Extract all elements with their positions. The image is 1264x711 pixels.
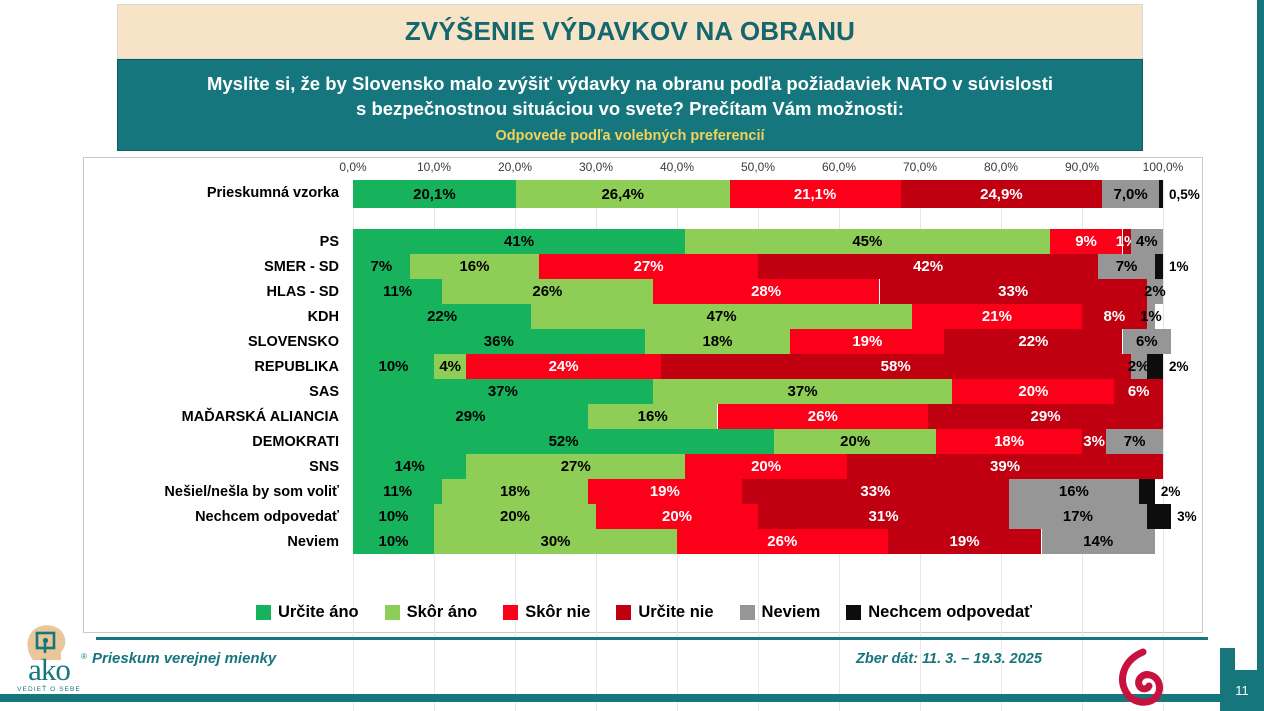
legend-swatch-icon [846,605,861,620]
chart-bar-segment[interactable]: 2% [1131,354,1147,379]
chart-bar-segment[interactable]: 29% [928,404,1163,429]
chart-bar-segment[interactable]: 26% [718,404,929,429]
chart-row-label: SLOVENSKO [84,334,346,350]
chart-bar-track: 36%18%19%22%6% [353,329,1163,354]
chart-legend: Určite ánoSkôr ánoSkôr nieUrčite nieNevi… [84,603,1204,622]
chart-bar-segment[interactable]: 20,1% [353,180,516,208]
chart-bar-segment[interactable]: 11% [353,279,442,304]
chart-bar-segment[interactable]: 20% [774,429,936,454]
chart-bar-track: 37%37%20%6% [353,379,1163,404]
chart-row: MAĎARSKÁ ALIANCIA29%16%26%29% [84,404,1204,429]
chart-bar-segment[interactable]: 18% [936,429,1082,454]
question-line-2: s bezpečnostnou situáciou vo svete? Preč… [356,96,904,121]
chart-row: PS41%45%9%1%4% [84,229,1204,254]
chart-bar-segment[interactable]: 7% [1098,254,1155,279]
chart-bar-track: 11%18%19%33%16%2% [353,479,1163,504]
chart-bar-segment[interactable]: 16% [1009,479,1139,504]
chart-outside-value: 3% [1173,504,1197,529]
chart-bar-segment[interactable]: 10% [353,354,434,379]
legend-label: Určite áno [278,603,359,622]
chart-bar-segment[interactable]: 19% [790,329,944,354]
chart-bar-segment[interactable]: 29% [353,404,588,429]
chart-bar-segment[interactable]: 36% [353,329,645,354]
legend-item[interactable]: Neviem [740,603,821,622]
chart-bar-segment[interactable]: 7% [353,254,410,279]
x-axis-tick: 90,0% [1065,160,1099,174]
chart-bar-segment[interactable] [1147,354,1163,379]
chart-bar-track: 14%27%20%39% [353,454,1163,479]
chart-bar-segment[interactable]: 20% [952,379,1114,404]
chart-bar-track: 29%16%26%29% [353,404,1163,429]
chart-bar-track: 11%26%28%33%2% [353,279,1163,304]
footer-divider [96,637,1208,640]
chart-bar-segment[interactable]: 26% [442,279,653,304]
chart-row: DEMOKRATI52%20%18%3%7% [84,429,1204,454]
chart-bar-segment[interactable]: 18% [645,329,791,354]
chart-area: 0,0%10,0%20,0%30,0%40,0%50,0%60,0%70,0%8… [83,157,1203,633]
footer-caption: Prieskum verejnej mienky [92,650,276,667]
chart-bar-segment[interactable] [1139,479,1155,504]
chart-row-label: DEMOKRATI [84,434,346,450]
chart-bar-segment[interactable]: 37% [353,379,653,404]
x-axis-tick: 20,0% [498,160,532,174]
chart-row: Nešiel/nešla by som voliť11%18%19%33%16%… [84,479,1204,504]
chart-bar-segment[interactable]: 41% [353,229,685,254]
chart-row: REPUBLIKA10%4%24%58%2%2% [84,354,1204,379]
chart-row-label: Nechcem odpovedať [84,509,346,525]
chart-row: SLOVENSKO36%18%19%22%6% [84,329,1204,354]
chart-bar-segment[interactable]: 33% [742,479,1009,504]
chart-bar-segment[interactable] [1159,180,1163,208]
chart-bar-segment[interactable]: 20% [434,504,596,529]
chart-row-label: Nešiel/nešla by som voliť [84,484,346,500]
legend-item[interactable]: Nechcem odpovedať [846,603,1032,622]
chart-bar-segment[interactable]: 26% [677,529,888,554]
chart-bar-segment[interactable]: 39% [847,454,1163,479]
ako-logo: ako ® VEDIEŤ O SEBE [5,624,91,706]
chart-row: Neviem10%30%26%19%14% [84,529,1204,554]
chart-bar-segment[interactable]: 22% [944,329,1122,354]
legend-item[interactable]: Skôr nie [503,603,590,622]
chart-row-label: MAĎARSKÁ ALIANCIA [84,409,346,425]
legend-item[interactable]: Určite áno [256,603,359,622]
x-axis-tick: 100,0% [1143,160,1184,174]
chart-row-label: Prieskumná vzorka [84,185,346,201]
chart-bar-segment[interactable]: 16% [410,254,540,279]
chart-bar-track: 20,1%26,4%21,1%24,9%7,0%0,5% [353,180,1163,205]
legend-swatch-icon [385,605,400,620]
legend-swatch-icon [256,605,271,620]
x-axis-tick: 30,0% [579,160,613,174]
chart-bar-segment[interactable]: 37% [653,379,953,404]
chart-bar-segment[interactable]: 10% [353,504,434,529]
chart-bar-segment[interactable]: 11% [353,479,442,504]
chart-bar-segment[interactable]: 7% [1106,429,1163,454]
chart-bar-segment[interactable]: 20% [596,504,758,529]
chart-bar-segment[interactable]: 28% [653,279,880,304]
chart-bar-segment[interactable]: 6% [1123,329,1172,354]
chart-bar-segment[interactable]: 16% [588,404,718,429]
ako-logo-tagline: VEDIEŤ O SEBE [5,686,93,693]
chart-row-label: SAS [84,384,346,400]
legend-label: Nechcem odpovedať [868,603,1032,622]
chart-bar-segment[interactable]: 14% [353,454,466,479]
chart-bar-segment[interactable]: 9% [1050,229,1123,254]
chart-bar-segment[interactable]: 8% [1082,304,1147,329]
chart-bar-segment[interactable]: 14% [1042,529,1155,554]
x-axis-tick: 80,0% [984,160,1018,174]
brand-swirl-icon [1104,648,1182,710]
ako-logo-registered: ® [81,652,87,661]
chart-bar-segment[interactable]: 19% [588,479,742,504]
chart-row-label: SNS [84,459,346,475]
x-axis-tick: 50,0% [741,160,775,174]
chart-bar-segment[interactable] [1155,254,1163,279]
slide-title-band: ZVÝŠENIE VÝDAVKOV NA OBRANU [117,4,1143,59]
chart-bar-segment[interactable]: 24% [466,354,660,379]
ako-logo-word: ako [7,652,91,688]
page-badge-notch [1220,648,1235,672]
question-subtitle: Odpovede podľa volebných preferencií [495,128,764,144]
chart-row: KDH22%47%21%8%1% [84,304,1204,329]
chart-row: SAS37%37%20%6% [84,379,1204,404]
chart-bar-track: 7%16%27%42%7%1% [353,254,1163,279]
question-line-1: Myslite si, že by Slovensko malo zvýšiť … [207,71,1053,96]
chart-row: SNS14%27%20%39% [84,454,1204,479]
chart-row-label: REPUBLIKA [84,359,346,375]
chart-bar-segment[interactable]: 24,9% [901,180,1103,208]
chart-bar-segment[interactable]: 31% [758,504,1009,529]
chart-bar-segment[interactable]: 19% [888,529,1042,554]
chart-bar-segment[interactable]: 27% [539,254,758,279]
chart-bar-segment[interactable]: 21% [912,304,1082,329]
legend-item[interactable]: Určite nie [616,603,713,622]
chart-bar-segment[interactable]: 30% [434,529,677,554]
x-axis-tick: 0,0% [339,160,366,174]
chart-bar-segment[interactable]: 10% [353,529,434,554]
chart-row: SMER - SD7%16%27%42%7%1% [84,254,1204,279]
chart-bar-segment[interactable]: 7,0% [1102,180,1159,208]
legend-label: Určite nie [638,603,713,622]
legend-label: Neviem [762,603,821,622]
chart-bar-segment[interactable]: 4% [1131,229,1163,254]
chart-outside-value: 2% [1165,354,1189,379]
chart-bar-track: 22%47%21%8%1% [353,304,1163,329]
legend-item[interactable]: Skôr áno [385,603,478,622]
x-axis-ticks: 0,0%10,0%20,0%30,0%40,0%50,0%60,0%70,0%8… [84,160,1202,180]
chart-bar-segment[interactable]: 33% [880,279,1147,304]
chart-bar-segment[interactable]: 2% [1147,279,1163,304]
chart-bar-segment[interactable]: 20% [685,454,847,479]
chart-bar-track: 41%45%9%1%4% [353,229,1163,254]
chart-row-spacer [84,205,1204,229]
chart-bar-segment[interactable]: 6% [1114,379,1163,404]
chart-row-label: PS [84,234,346,250]
chart-bar-segment[interactable]: 27% [466,454,685,479]
chart-row: HLAS - SD11%26%28%33%2% [84,279,1204,304]
chart-row-label: KDH [84,309,346,325]
chart-outside-value: 2% [1157,479,1181,504]
x-axis-tick: 10,0% [417,160,451,174]
chart-bar-track: 52%20%18%3%7% [353,429,1163,454]
chart-bar-track: 10%20%20%31%17%3% [353,504,1163,529]
legend-label: Skôr áno [407,603,478,622]
chart-bar-segment[interactable]: 45% [685,229,1050,254]
legend-swatch-icon [616,605,631,620]
legend-label: Skôr nie [525,603,590,622]
chart-bar-segment[interactable]: 22% [353,304,531,329]
chart-bar-segment[interactable]: 18% [442,479,588,504]
chart-row-label: HLAS - SD [84,284,346,300]
chart-row: Prieskumná vzorka20,1%26,4%21,1%24,9%7,0… [84,180,1204,205]
chart-outside-value: 0,5% [1165,180,1200,208]
chart-row-label: SMER - SD [84,259,346,275]
chart-bar-segment[interactable]: 58% [661,354,1131,379]
chart-bar-segment[interactable]: 1% [1147,304,1155,329]
chart-bar-segment[interactable] [1147,504,1171,529]
chart-bar-segment[interactable]: 52% [353,429,774,454]
chart-bar-segment[interactable]: 17% [1009,504,1147,529]
question-band: Myslite si, že by Slovensko malo zvýšiť … [117,59,1143,151]
chart-bar-segment[interactable]: 3% [1082,429,1106,454]
chart-bar-segment[interactable]: 42% [758,254,1098,279]
chart-bar-segment[interactable]: 47% [531,304,912,329]
x-axis-tick: 60,0% [822,160,856,174]
x-axis-tick: 70,0% [903,160,937,174]
chart-row: Nechcem odpovedať10%20%20%31%17%3% [84,504,1204,529]
page-title: ZVÝŠENIE VÝDAVKOV NA OBRANU [405,16,855,47]
legend-swatch-icon [503,605,518,620]
chart-bar-track: 10%30%26%19%14% [353,529,1163,554]
slide-root: ZVÝŠENIE VÝDAVKOV NA OBRANU Myslite si, … [0,0,1264,711]
chart-row-label: Neviem [84,534,346,550]
chart-bar-segment[interactable]: 26,4% [516,180,730,208]
chart-bar-segment[interactable]: 1% [1123,229,1131,254]
chart-rows: Prieskumná vzorka20,1%26,4%21,1%24,9%7,0… [84,180,1204,554]
chart-bar-segment[interactable]: 21,1% [730,180,901,208]
footer-date: Zber dát: 11. 3. – 19.3. 2025 [856,651,1042,667]
chart-bar-segment[interactable]: 4% [434,354,466,379]
page-number-badge: 11 [1220,670,1264,711]
footer-bottom-bar [0,694,1257,702]
chart-bar-track: 10%4%24%58%2%2% [353,354,1163,379]
chart-outside-value: 1% [1165,254,1189,279]
x-axis-tick: 40,0% [660,160,694,174]
legend-swatch-icon [740,605,755,620]
right-edge-strip [1257,0,1264,711]
